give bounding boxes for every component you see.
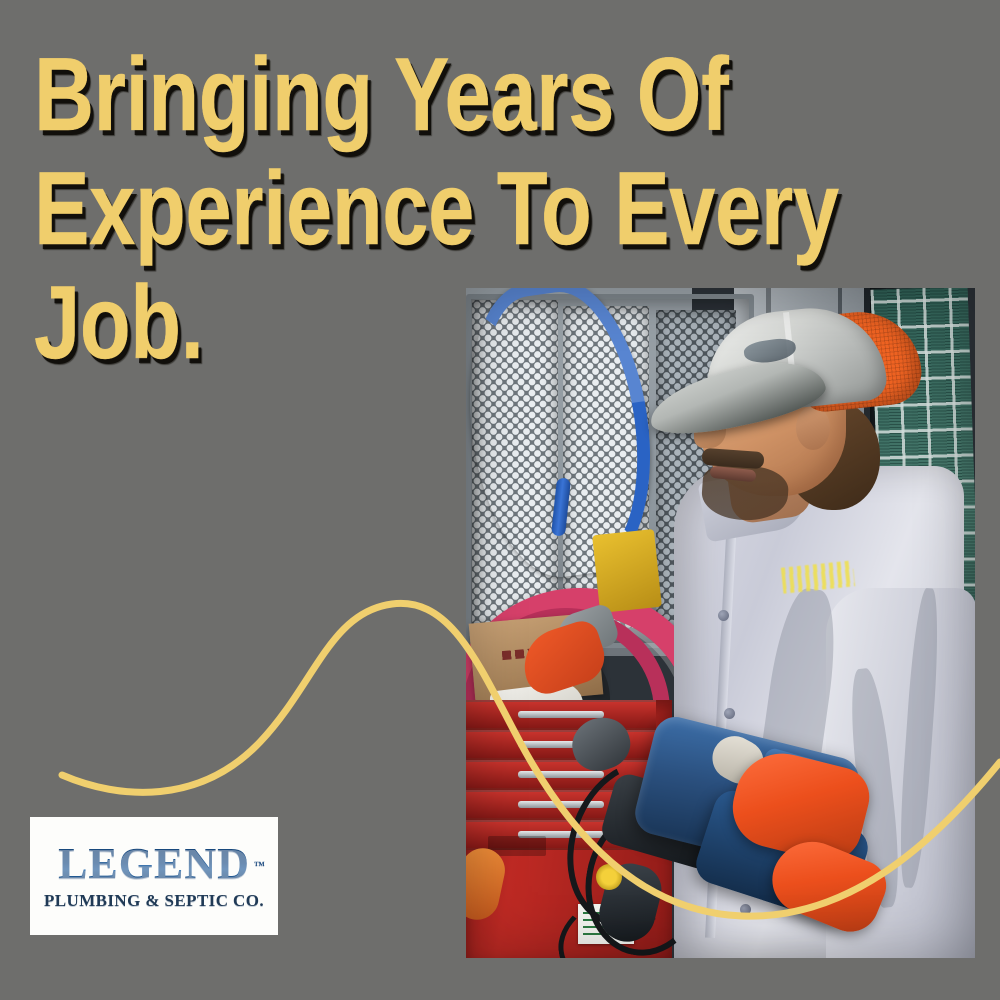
logo-wordmark-text: LEGEND: [58, 839, 250, 888]
headline-line-2: Experience To Every: [34, 152, 738, 266]
logo-tagline: PLUMBING & SEPTIC CO.: [44, 891, 264, 911]
photo-vignette: [466, 288, 975, 958]
logo-wordmark: LEGEND ™: [58, 842, 250, 886]
technician-photo: [466, 288, 975, 958]
headline-line-1: Bringing Years Of: [34, 38, 738, 152]
promo-graphic-canvas: Bringing Years Of Experience To Every Jo…: [0, 0, 1000, 1000]
trademark-symbol: ™: [254, 844, 265, 888]
legend-plumbing-logo[interactable]: LEGEND ™ PLUMBING & SEPTIC CO.: [30, 817, 278, 935]
